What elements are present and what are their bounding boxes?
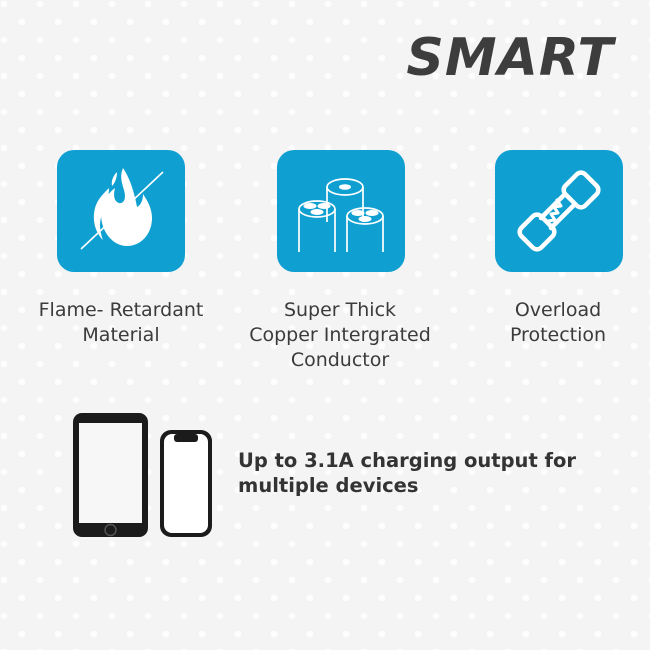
feature-icon-tile xyxy=(495,150,623,272)
fuse-overload-icon xyxy=(495,150,623,272)
page-title: SMART xyxy=(406,32,614,84)
feature-caption: Super Thick Copper Intergrated Conductor xyxy=(235,298,445,373)
smartphone-device-icon xyxy=(160,430,212,537)
flame-no-fire-icon xyxy=(57,150,185,272)
feature-overload-protection: Overload Protection xyxy=(458,150,650,348)
phone-notch xyxy=(174,434,198,442)
charging-output-section: Up to 3.1A charging output for multiple … xyxy=(0,400,650,550)
feature-caption: Flame- Retardant Material xyxy=(20,298,222,348)
feature-flame-retardant: Flame- Retardant Material xyxy=(20,150,222,348)
charging-output-text: Up to 3.1A charging output for multiple … xyxy=(238,448,608,499)
feature-icon-tile xyxy=(277,150,405,272)
feature-icon-tile xyxy=(57,150,185,272)
device-illustration xyxy=(70,405,220,540)
tablet-device-icon xyxy=(73,413,148,537)
infographic-page: SMART Flame- Retardant Material xyxy=(0,0,650,650)
feature-copper-conductor: Super Thick Copper Intergrated Conductor xyxy=(235,150,445,373)
copper-conductor-cables-icon xyxy=(277,150,405,272)
feature-caption: Overload Protection xyxy=(458,298,650,348)
